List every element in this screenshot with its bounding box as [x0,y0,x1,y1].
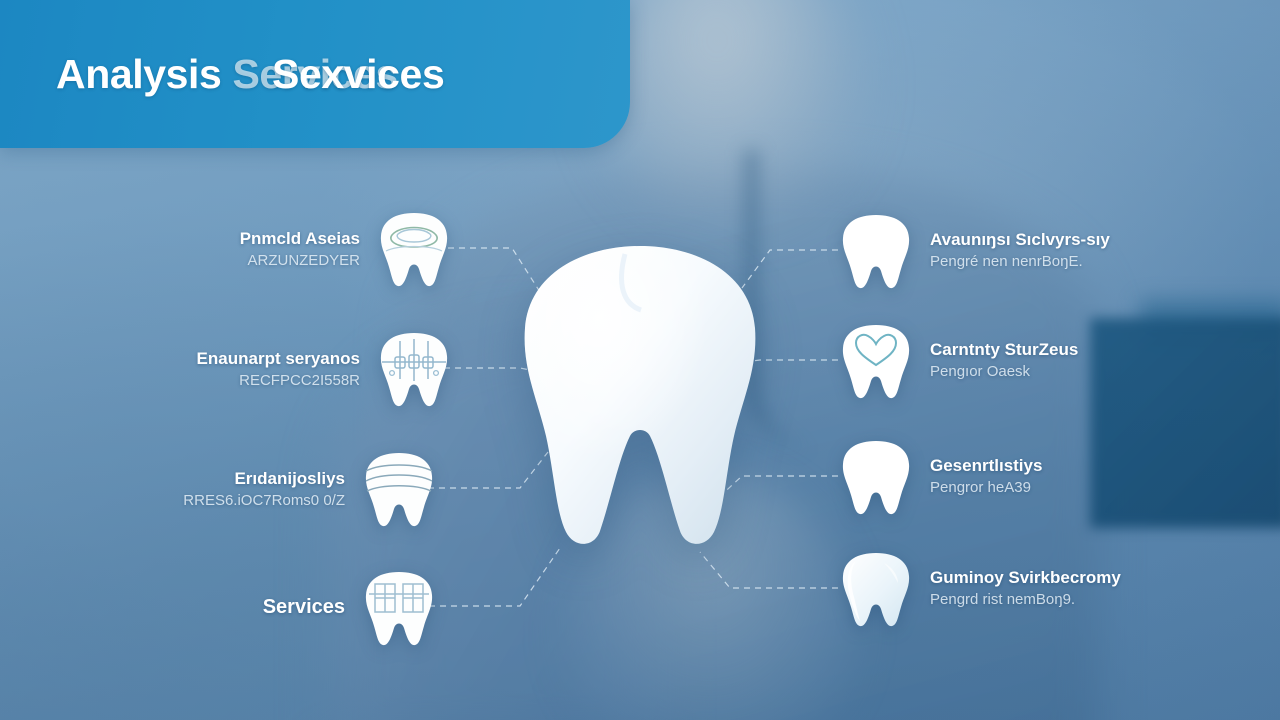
right-item-text-3: Guminoy Svirkbecromy Pengrd rist nemBoŋ9… [930,567,1121,610]
right-item-heading-1: Carntnty SturZeus [930,339,1078,360]
tooth-shine-icon[interactable] [840,549,912,629]
left-item-subheading-2: RRES6.iOC7Roms0 0/Z [183,491,345,511]
list-item[interactable]: Erıdanijosliys RRES6.iOC7Roms0 0/Z [90,448,435,530]
left-item-text-0: Pnmcld Aseias ARZUNZEDYER [240,228,360,271]
right-item-text-1: Carntnty SturZeus Pengıor Oaesk [930,339,1078,382]
tooth-plain-icon[interactable] [840,211,912,291]
right-item-heading-2: Gesenrtlıstiys [930,455,1042,476]
list-item[interactable]: Carntnty SturZeus Pengıor Oaesk [840,318,1160,403]
tooth-lines-icon[interactable] [363,449,435,529]
right-item-subheading-1: Pengıor Oaesk [930,362,1078,382]
left-item-subheading-1: RECFPCC2I558R [197,371,360,391]
list-item[interactable]: Guminoy Svirkbecromy Pengrd rist nemBoŋ9… [840,546,1170,631]
list-item[interactable]: Avaunıŋsı Sıclvyrs-sıy Pengré nen nenrBo… [840,208,1170,293]
right-item-subheading-0: Pengré nen nenrBoŋE. [930,252,1110,272]
left-item-heading-2: Erıdanijosliys [183,468,345,489]
list-item[interactable]: Enaunarpt seryanos RECFPCC2I558R [110,328,450,410]
right-item-text-0: Avaunıŋsı Sıclvyrs-sıy Pengré nen nenrBo… [930,229,1110,272]
left-item-heading-0: Pnmcld Aseias [240,228,360,249]
tooth-cavity-icon[interactable] [840,321,912,401]
left-item-heading-1: Enaunarpt seryanos [197,348,360,369]
hero-tooth-icon [515,240,765,550]
right-item-text-2: Gesenrtlıstiys Pengror heA39 [930,455,1042,498]
header-banner: Analysis Services Sexvices [0,0,630,148]
tooth-crown-icon[interactable] [378,209,450,289]
right-item-heading-3: Guminoy Svirkbecromy [930,567,1121,588]
left-item-text-2: Erıdanijosliys RRES6.iOC7Roms0 0/Z [183,468,345,511]
left-item-text-1: Enaunarpt seryanos RECFPCC2I558R [197,348,360,391]
list-item[interactable]: Gesenrtlıstiys Pengror heA39 [840,434,1140,519]
tooth-plain-icon[interactable] [840,437,912,517]
left-item-text-3: Services [263,595,345,622]
tooth-grid-icon[interactable] [363,568,435,648]
list-item[interactable]: Pnmcld Aseias ARZUNZEDYER [140,208,450,290]
left-item-heading-3: Services [263,595,345,620]
right-item-subheading-3: Pengrd rist nemBoŋ9. [930,590,1121,610]
page-title-overlay: Sexvices [272,51,444,98]
page-title: Analysis Services Sexvices [0,51,398,98]
right-item-heading-0: Avaunıŋsı Sıclvyrs-sıy [930,229,1110,250]
left-item-subheading-0: ARZUNZEDYER [240,251,360,271]
right-item-subheading-2: Pengror heA39 [930,478,1042,498]
tooth-braces-icon[interactable] [378,329,450,409]
list-item[interactable]: Services [200,568,435,648]
page-title-primary: Analysis [56,51,232,97]
